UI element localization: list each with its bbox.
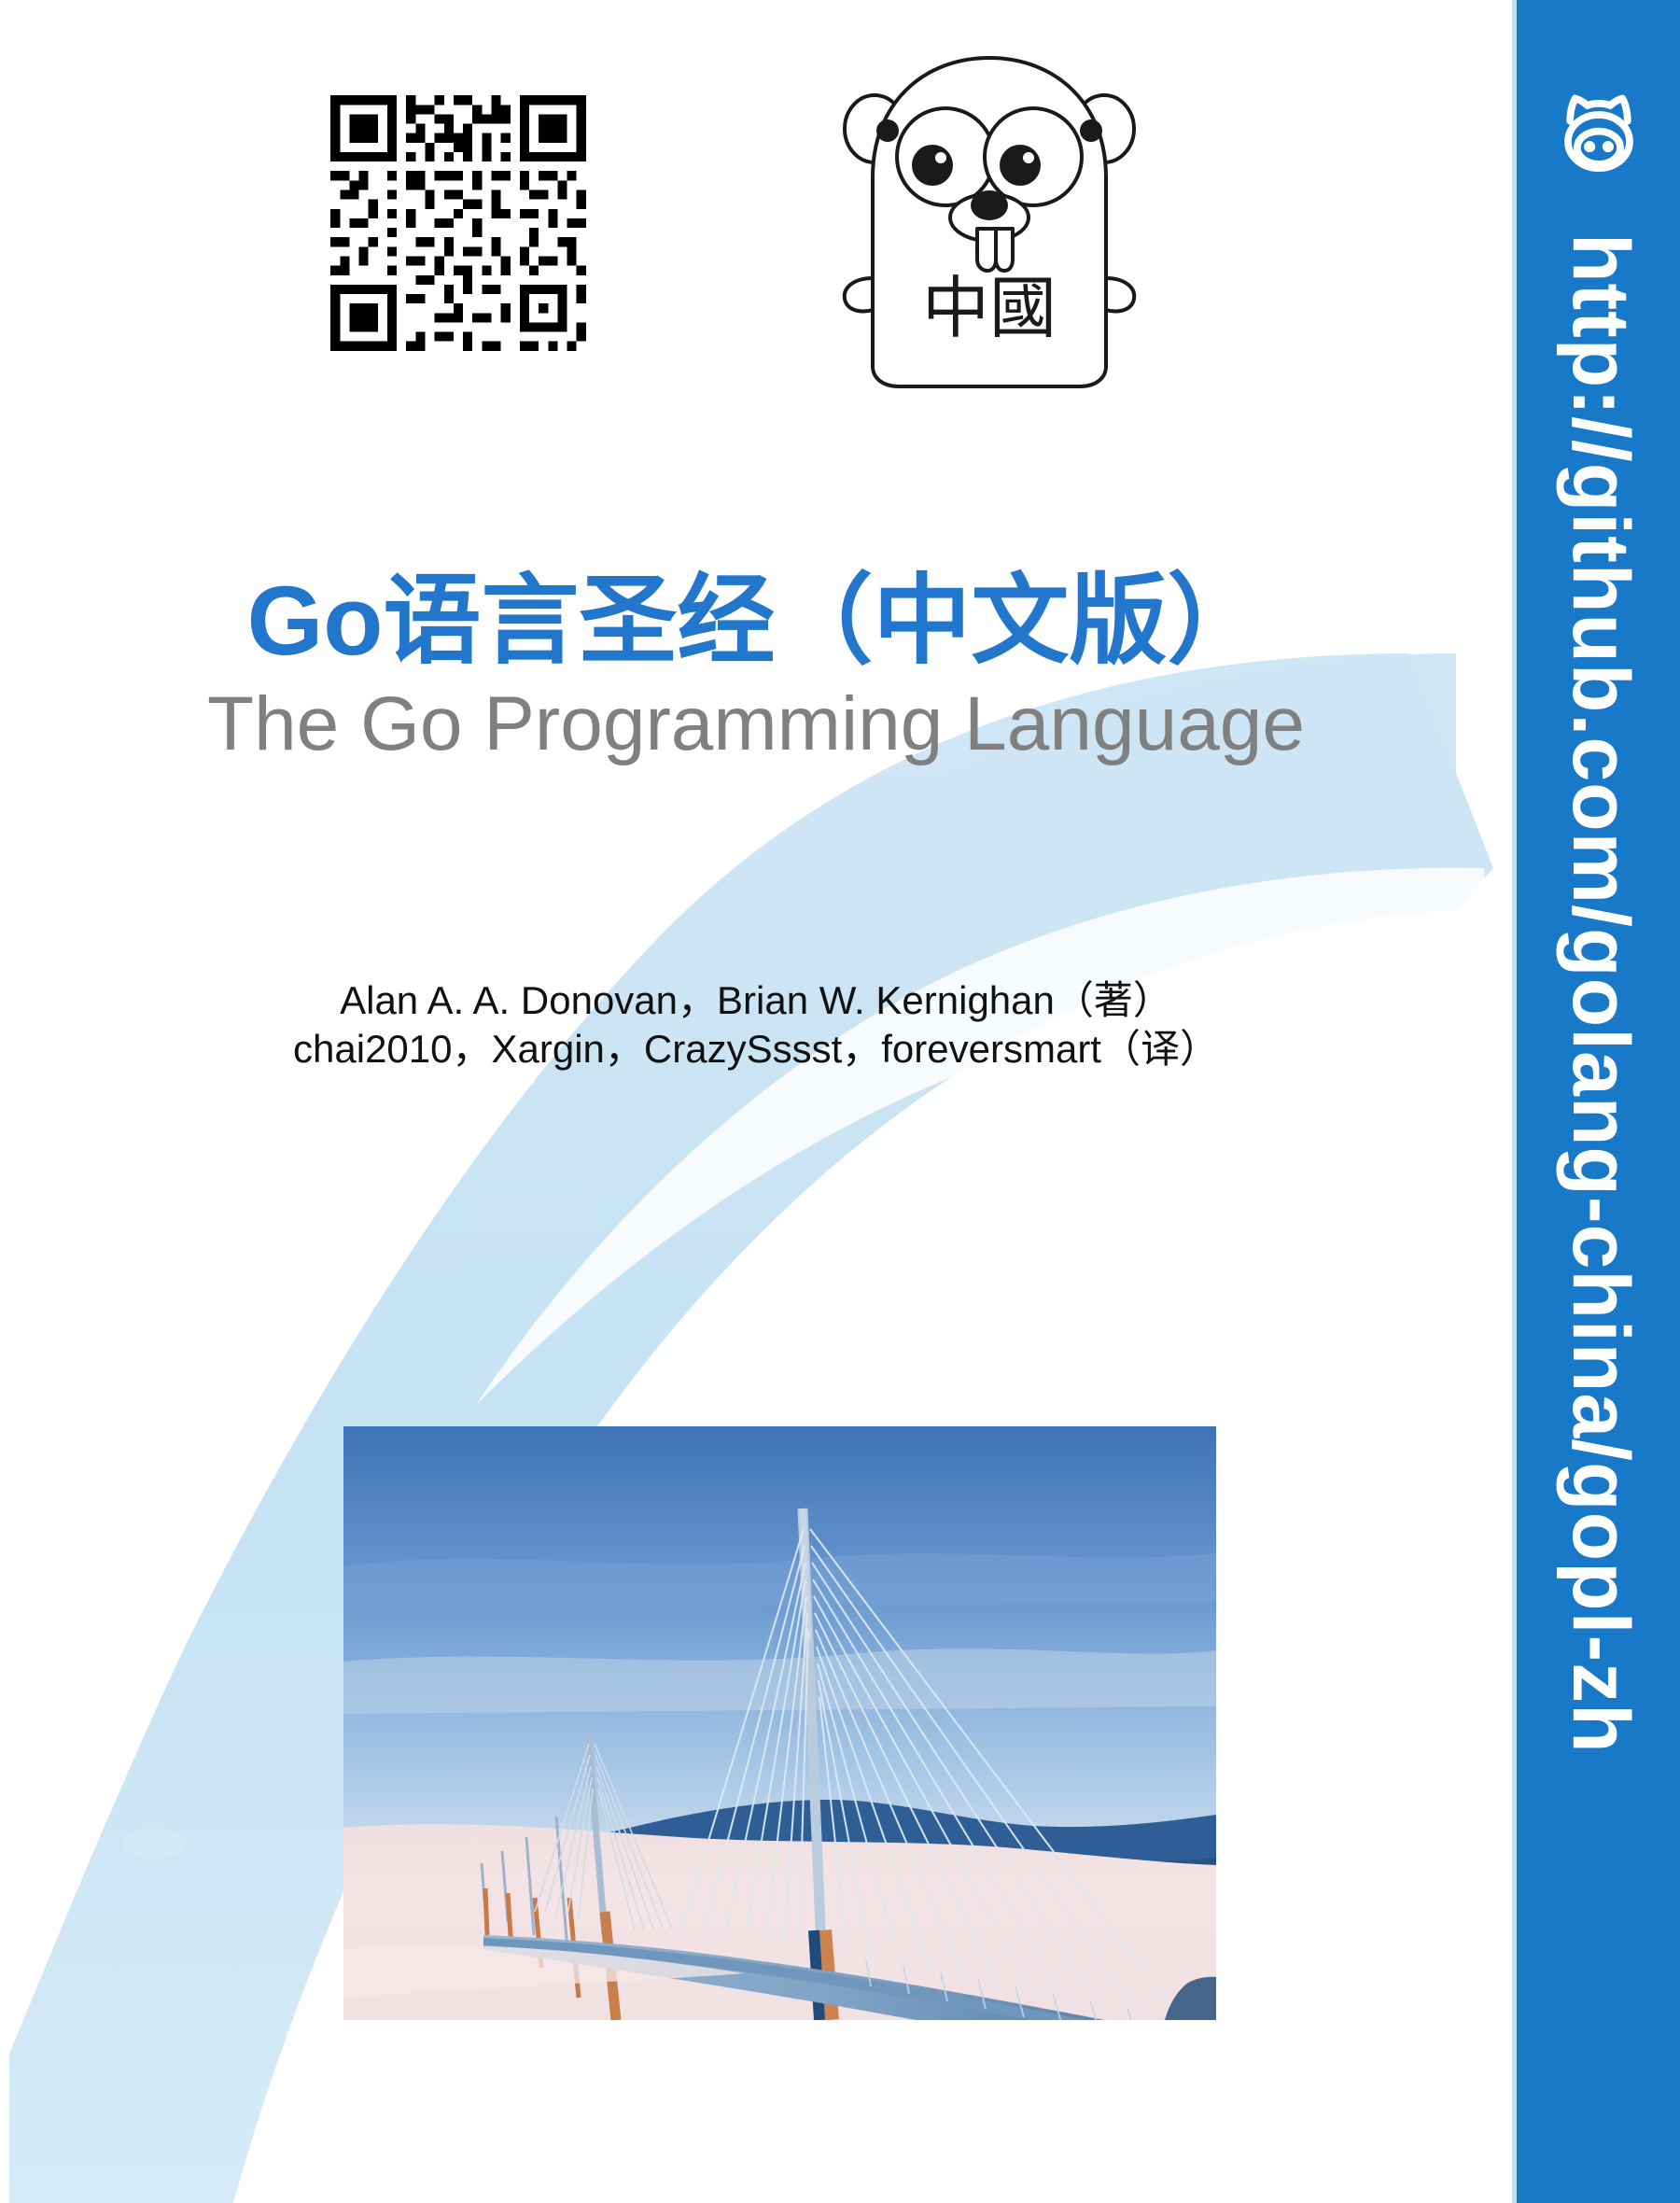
repository-url-link[interactable]: http://github.com/golang-china/gopl-zh (1561, 233, 1641, 1754)
gopher-belly-text: 中國 (922, 269, 1057, 347)
swoosh-speck (122, 1829, 186, 1859)
authors-line: Alan A. A. Donovan，Brian W. Kernighan（著） (0, 976, 1512, 1025)
github-sidebar: http://github.com/golang-china/gopl-zh (1512, 0, 1680, 2203)
github-octocat-icon (1547, 84, 1650, 187)
credits-block: Alan A. A. Donovan，Brian W. Kernighan（著）… (0, 976, 1512, 1073)
go-gopher-icon: 中國 (835, 37, 1143, 392)
qr-code-icon (321, 86, 595, 360)
swoosh-highlight (476, 868, 1493, 1405)
page-title: Go语言圣经（中文版） (0, 568, 1512, 676)
sidebar-url-wrapper: http://github.com/golang-china/gopl-zh (1517, 233, 1680, 2100)
translators-line: chai2010，Xargin，CrazySssst，foreversmart（… (0, 1025, 1512, 1073)
millau-viaduct-photo (343, 1426, 1216, 2020)
page-subtitle: The Go Programming Language (0, 681, 1512, 767)
title-block: Go语言圣经（中文版） The Go Programming Language (0, 568, 1512, 766)
book-cover: 中國 Go语言圣经（中文版） The Go Programming Langua… (0, 0, 1680, 2203)
